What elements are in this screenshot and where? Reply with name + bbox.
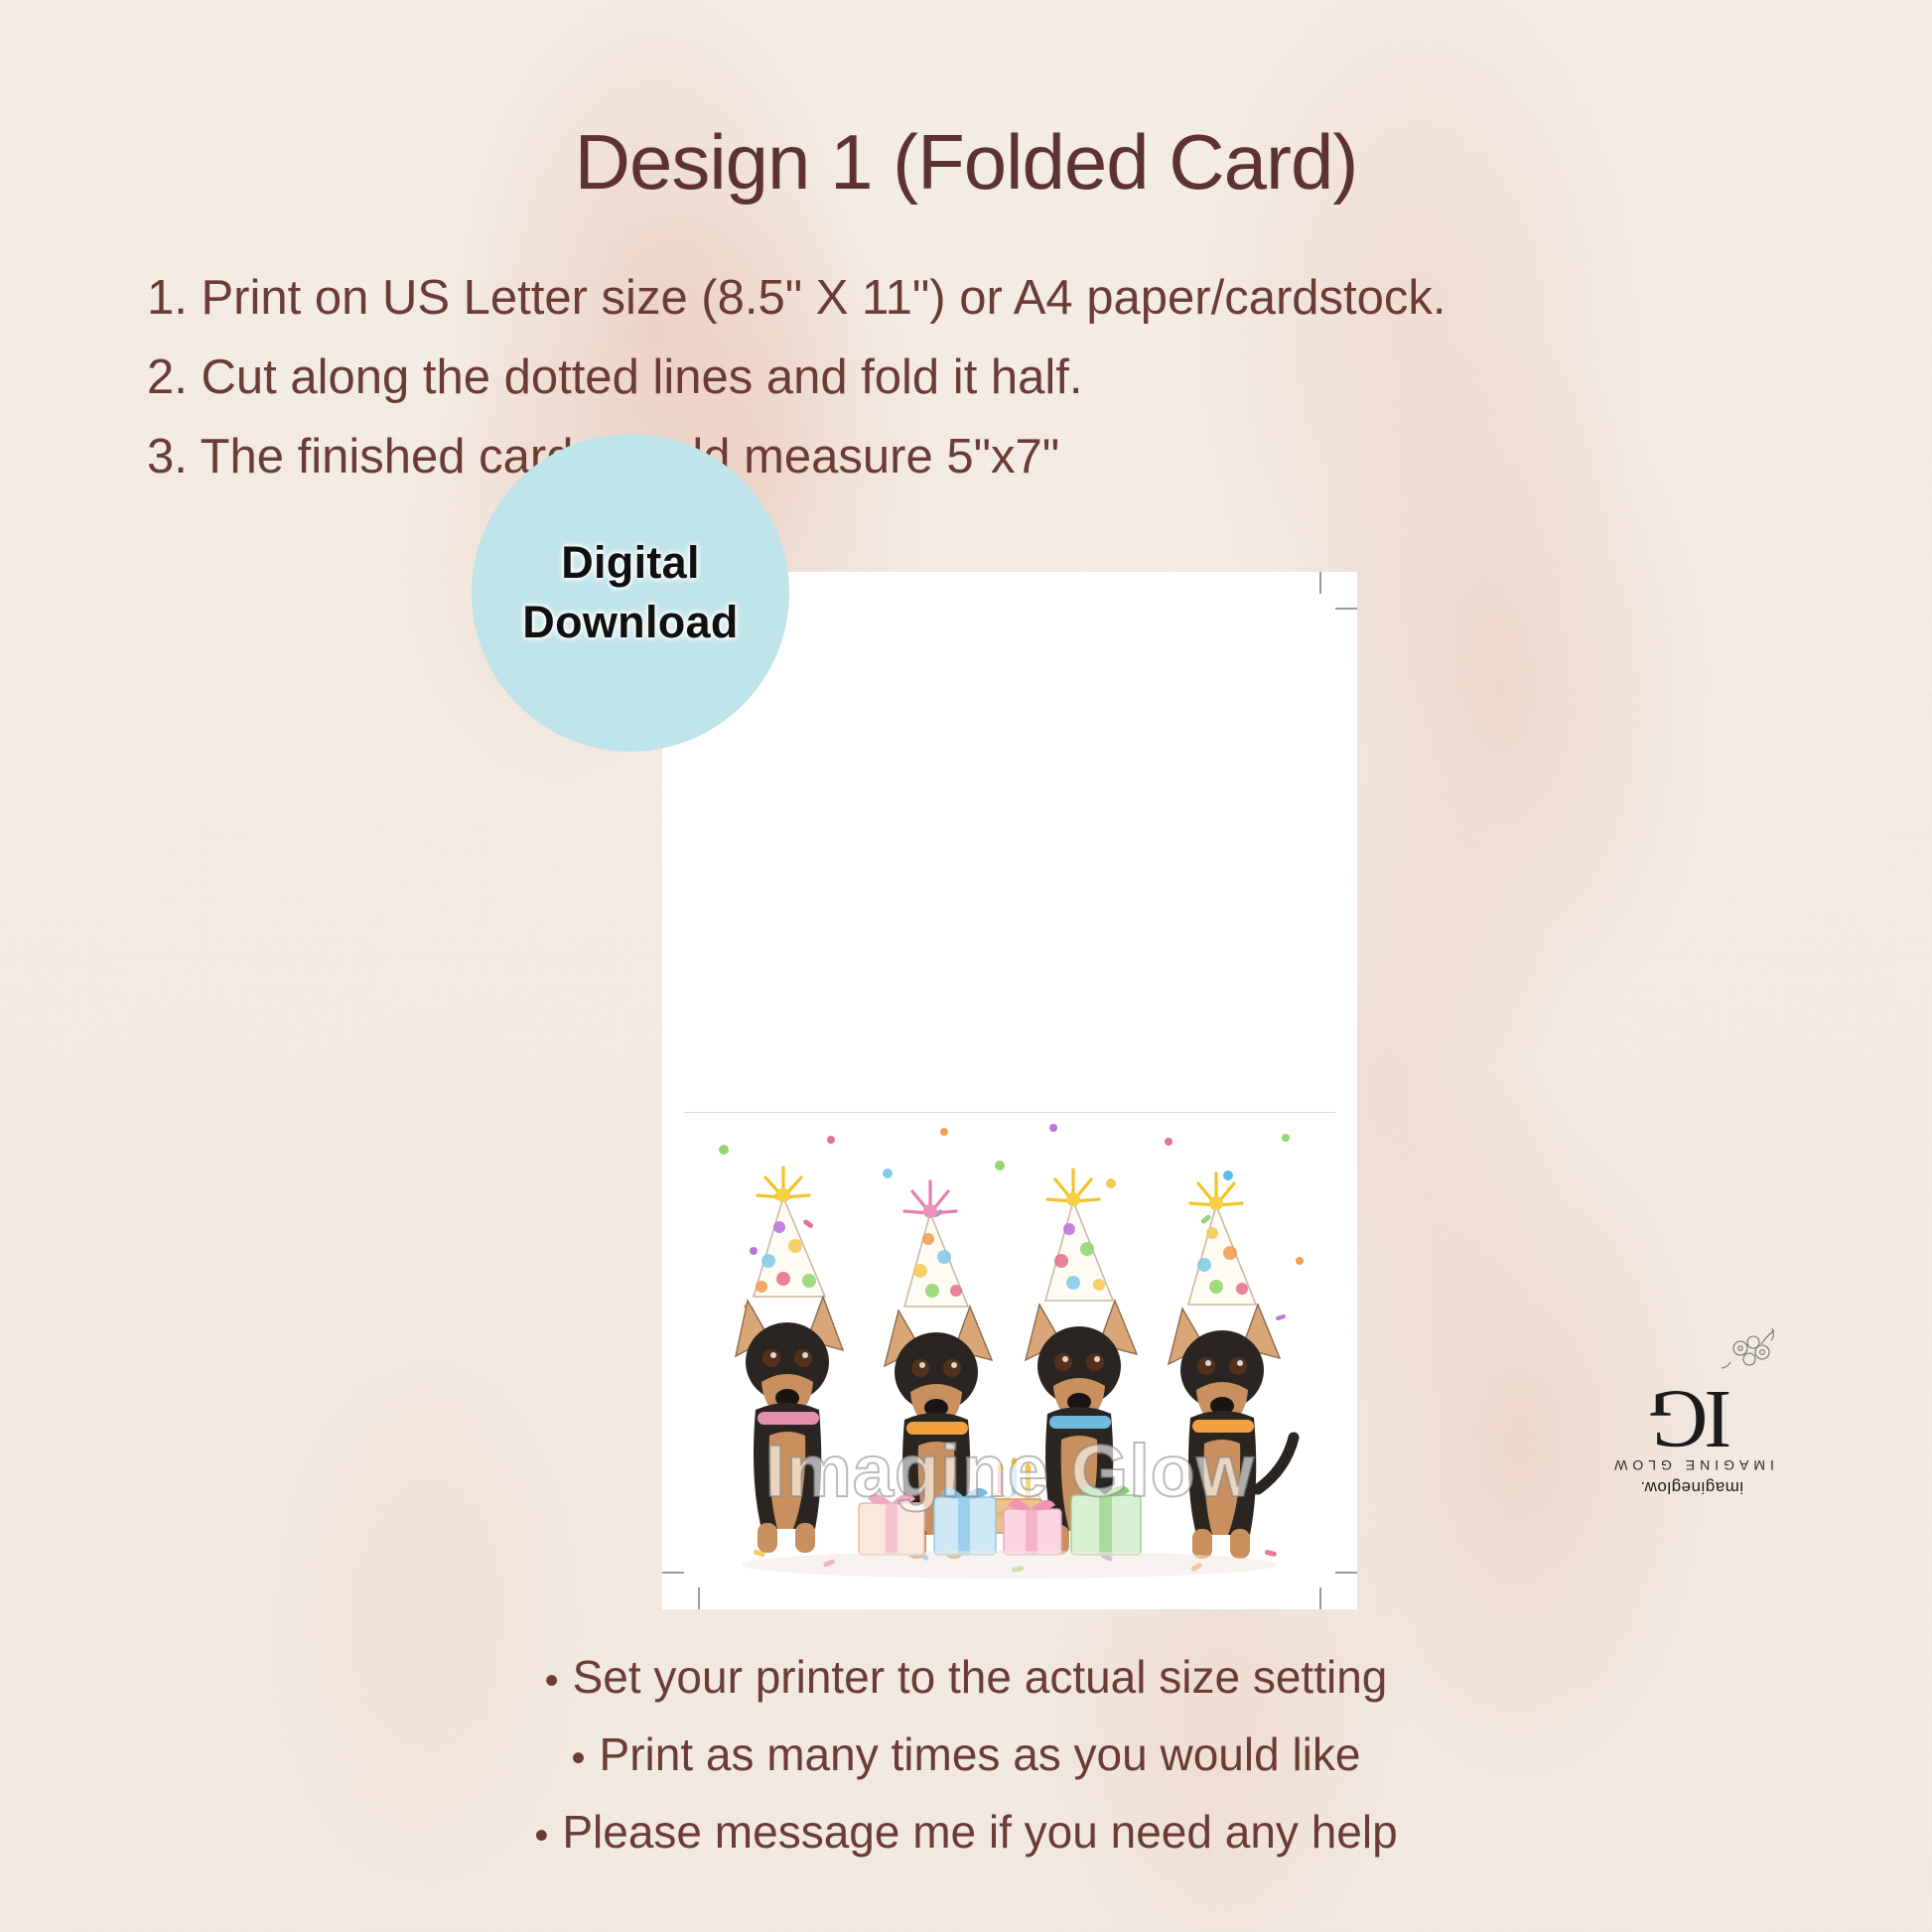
instruction-step-2: 2. Cut along the dotted lines and fold i… xyxy=(147,338,1815,417)
card-inner-area: Imagine Glow imagineglow. IMAGINE GLOW I… xyxy=(684,594,1335,1587)
floral-ornament-icon xyxy=(1719,1322,1782,1374)
tip-item-3: •Please message me if you need any help xyxy=(0,1795,1932,1872)
instruction-step-1: 1. Print on US Letter size (8.5" X 11") … xyxy=(147,258,1815,338)
tip-label-2: Print as many times as you would like xyxy=(600,1728,1361,1780)
tip-item-1: •Set your printer to the actual size set… xyxy=(0,1640,1932,1718)
page-title: Design 1 (Folded Card) xyxy=(0,117,1932,207)
bullet-marker-3: • xyxy=(534,1799,548,1872)
tip-item-2: •Print as many times as you would like xyxy=(0,1718,1932,1795)
bullet-marker-1: • xyxy=(545,1644,559,1718)
instruction-step-3: 3. The finished card should measure 5"x7… xyxy=(147,417,1815,496)
tips-list: •Set your printer to the actual size set… xyxy=(0,1640,1932,1872)
brand-logo-tagline: imagineglow. xyxy=(1597,1477,1786,1497)
card-illustration: Imagine Glow xyxy=(684,1113,1335,1587)
tip-label-3: Please message me if you need any help xyxy=(562,1806,1397,1858)
brand-logo-monogram: IG xyxy=(1597,1378,1786,1459)
bullet-marker-2: • xyxy=(572,1722,586,1795)
birthday-dogs-illustration xyxy=(684,1113,1335,1587)
tip-label-1: Set your printer to the actual size sett… xyxy=(573,1651,1388,1703)
card-mockup: Imagine Glow imagineglow. IMAGINE GLOW I… xyxy=(662,572,1357,1609)
badge-line-2: Download xyxy=(522,593,738,652)
digital-download-badge: Digital Download xyxy=(472,434,789,752)
badge-line-1: Digital xyxy=(561,533,700,593)
instruction-list: 1. Print on US Letter size (8.5" X 11") … xyxy=(147,258,1815,496)
brand-logo: imagineglow. IMAGINE GLOW IG xyxy=(1597,1328,1786,1497)
